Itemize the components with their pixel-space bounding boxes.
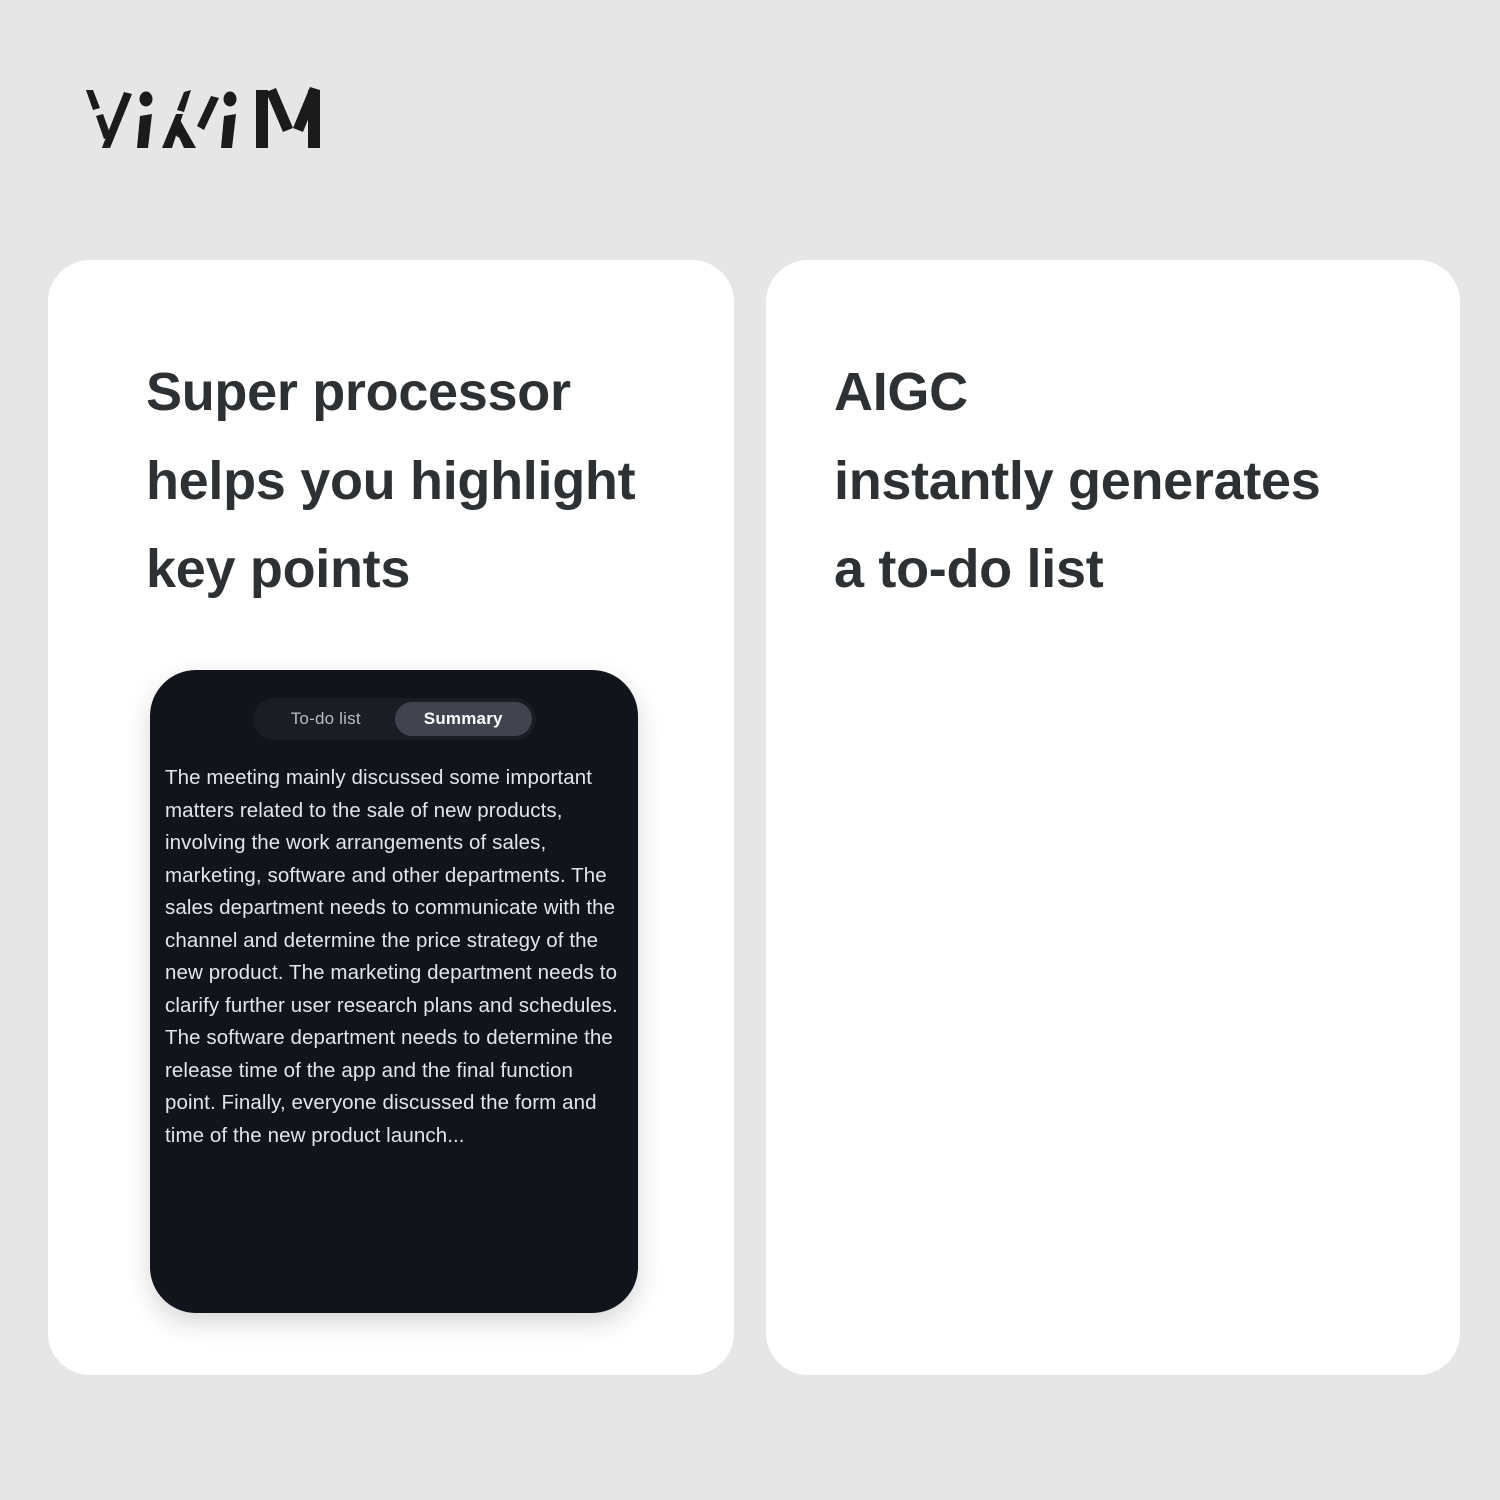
feature-card-left: Super processor helps you highlight key … xyxy=(48,260,734,1375)
phone-mock-summary: To-do list Summary The meeting mainly di… xyxy=(150,670,638,1313)
summary-body-text: The meeting mainly discussed some import… xyxy=(165,762,625,1152)
page-title: AIGC instantly generates a to-do list xyxy=(834,348,1320,614)
viaim-logo xyxy=(80,84,350,156)
page-title: Super processor helps you highlight key … xyxy=(146,348,635,614)
tab-todo-list[interactable]: To-do list xyxy=(257,702,395,736)
tab-bar-summary: To-do list Summary xyxy=(253,698,536,740)
feature-card-right: AIGC instantly generates a to-do list VI… xyxy=(766,260,1460,1375)
page-root: Super processor helps you highlight key … xyxy=(0,0,1500,1500)
tab-summary[interactable]: Summary xyxy=(395,702,533,736)
